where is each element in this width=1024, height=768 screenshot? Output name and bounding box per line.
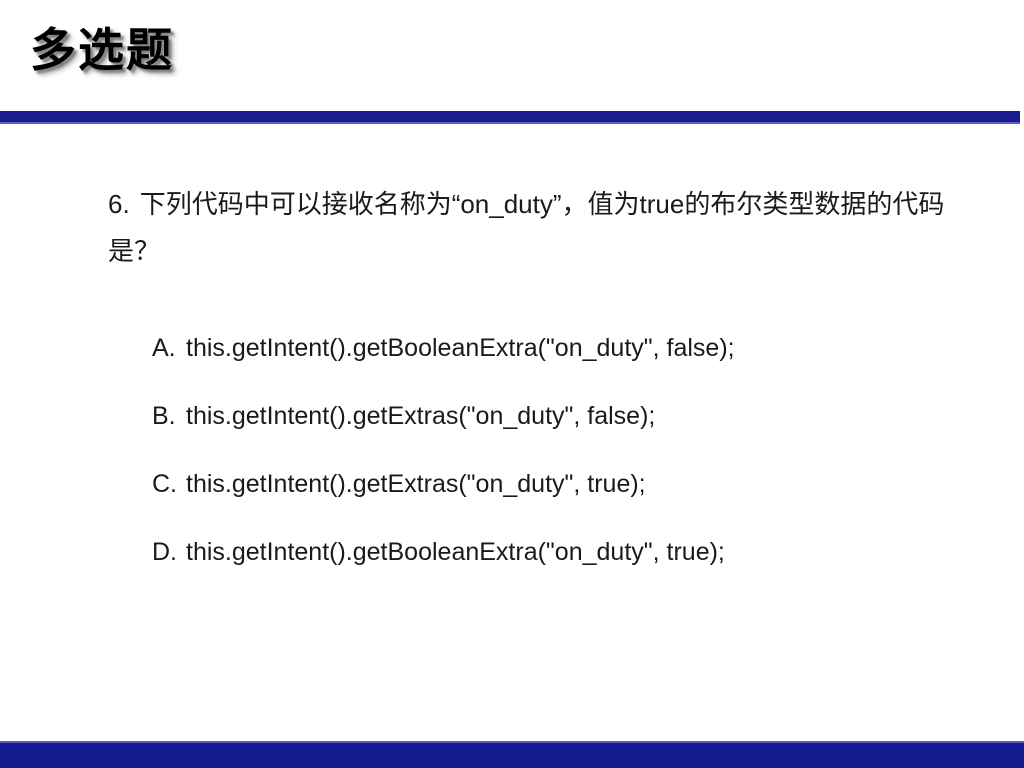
- question-text: 下列代码中可以接收名称为“on_duty”，值为true的布尔类型数据的代码是？: [108, 189, 944, 266]
- option-d-letter: D.: [152, 537, 186, 567]
- footer-bar: [0, 743, 1024, 768]
- page-title: 多选题: [30, 22, 174, 80]
- option-d-text: this.getIntent().getBooleanExtra("on_dut…: [186, 537, 1002, 567]
- option-a[interactable]: A. this.getIntent().getBooleanExtra("on_…: [152, 333, 1002, 363]
- option-d[interactable]: D. this.getIntent().getBooleanExtra("on_…: [152, 537, 1002, 567]
- question-number: 6.: [108, 189, 130, 219]
- header-divider-bar: [0, 111, 1020, 122]
- option-a-letter: A.: [152, 333, 186, 363]
- option-c-letter: C.: [152, 469, 186, 499]
- option-b[interactable]: B. this.getIntent().getExtras("on_duty",…: [152, 401, 1002, 431]
- option-c[interactable]: C. this.getIntent().getExtras("on_duty",…: [152, 469, 1002, 499]
- slide-root: 多选题 6.下列代码中可以接收名称为“on_duty”，值为true的布尔类型数…: [0, 0, 1024, 768]
- options-list: A. this.getIntent().getBooleanExtra("on_…: [152, 333, 1002, 567]
- option-a-text: this.getIntent().getBooleanExtra("on_dut…: [186, 333, 1002, 363]
- option-c-text: this.getIntent().getExtras("on_duty", tr…: [186, 469, 1002, 499]
- option-b-text: this.getIntent().getExtras("on_duty", fa…: [186, 401, 1002, 431]
- header-divider-accent-line: [0, 122, 1020, 124]
- option-b-letter: B.: [152, 401, 186, 431]
- question-block: 6.下列代码中可以接收名称为“on_duty”，值为true的布尔类型数据的代码…: [108, 181, 988, 275]
